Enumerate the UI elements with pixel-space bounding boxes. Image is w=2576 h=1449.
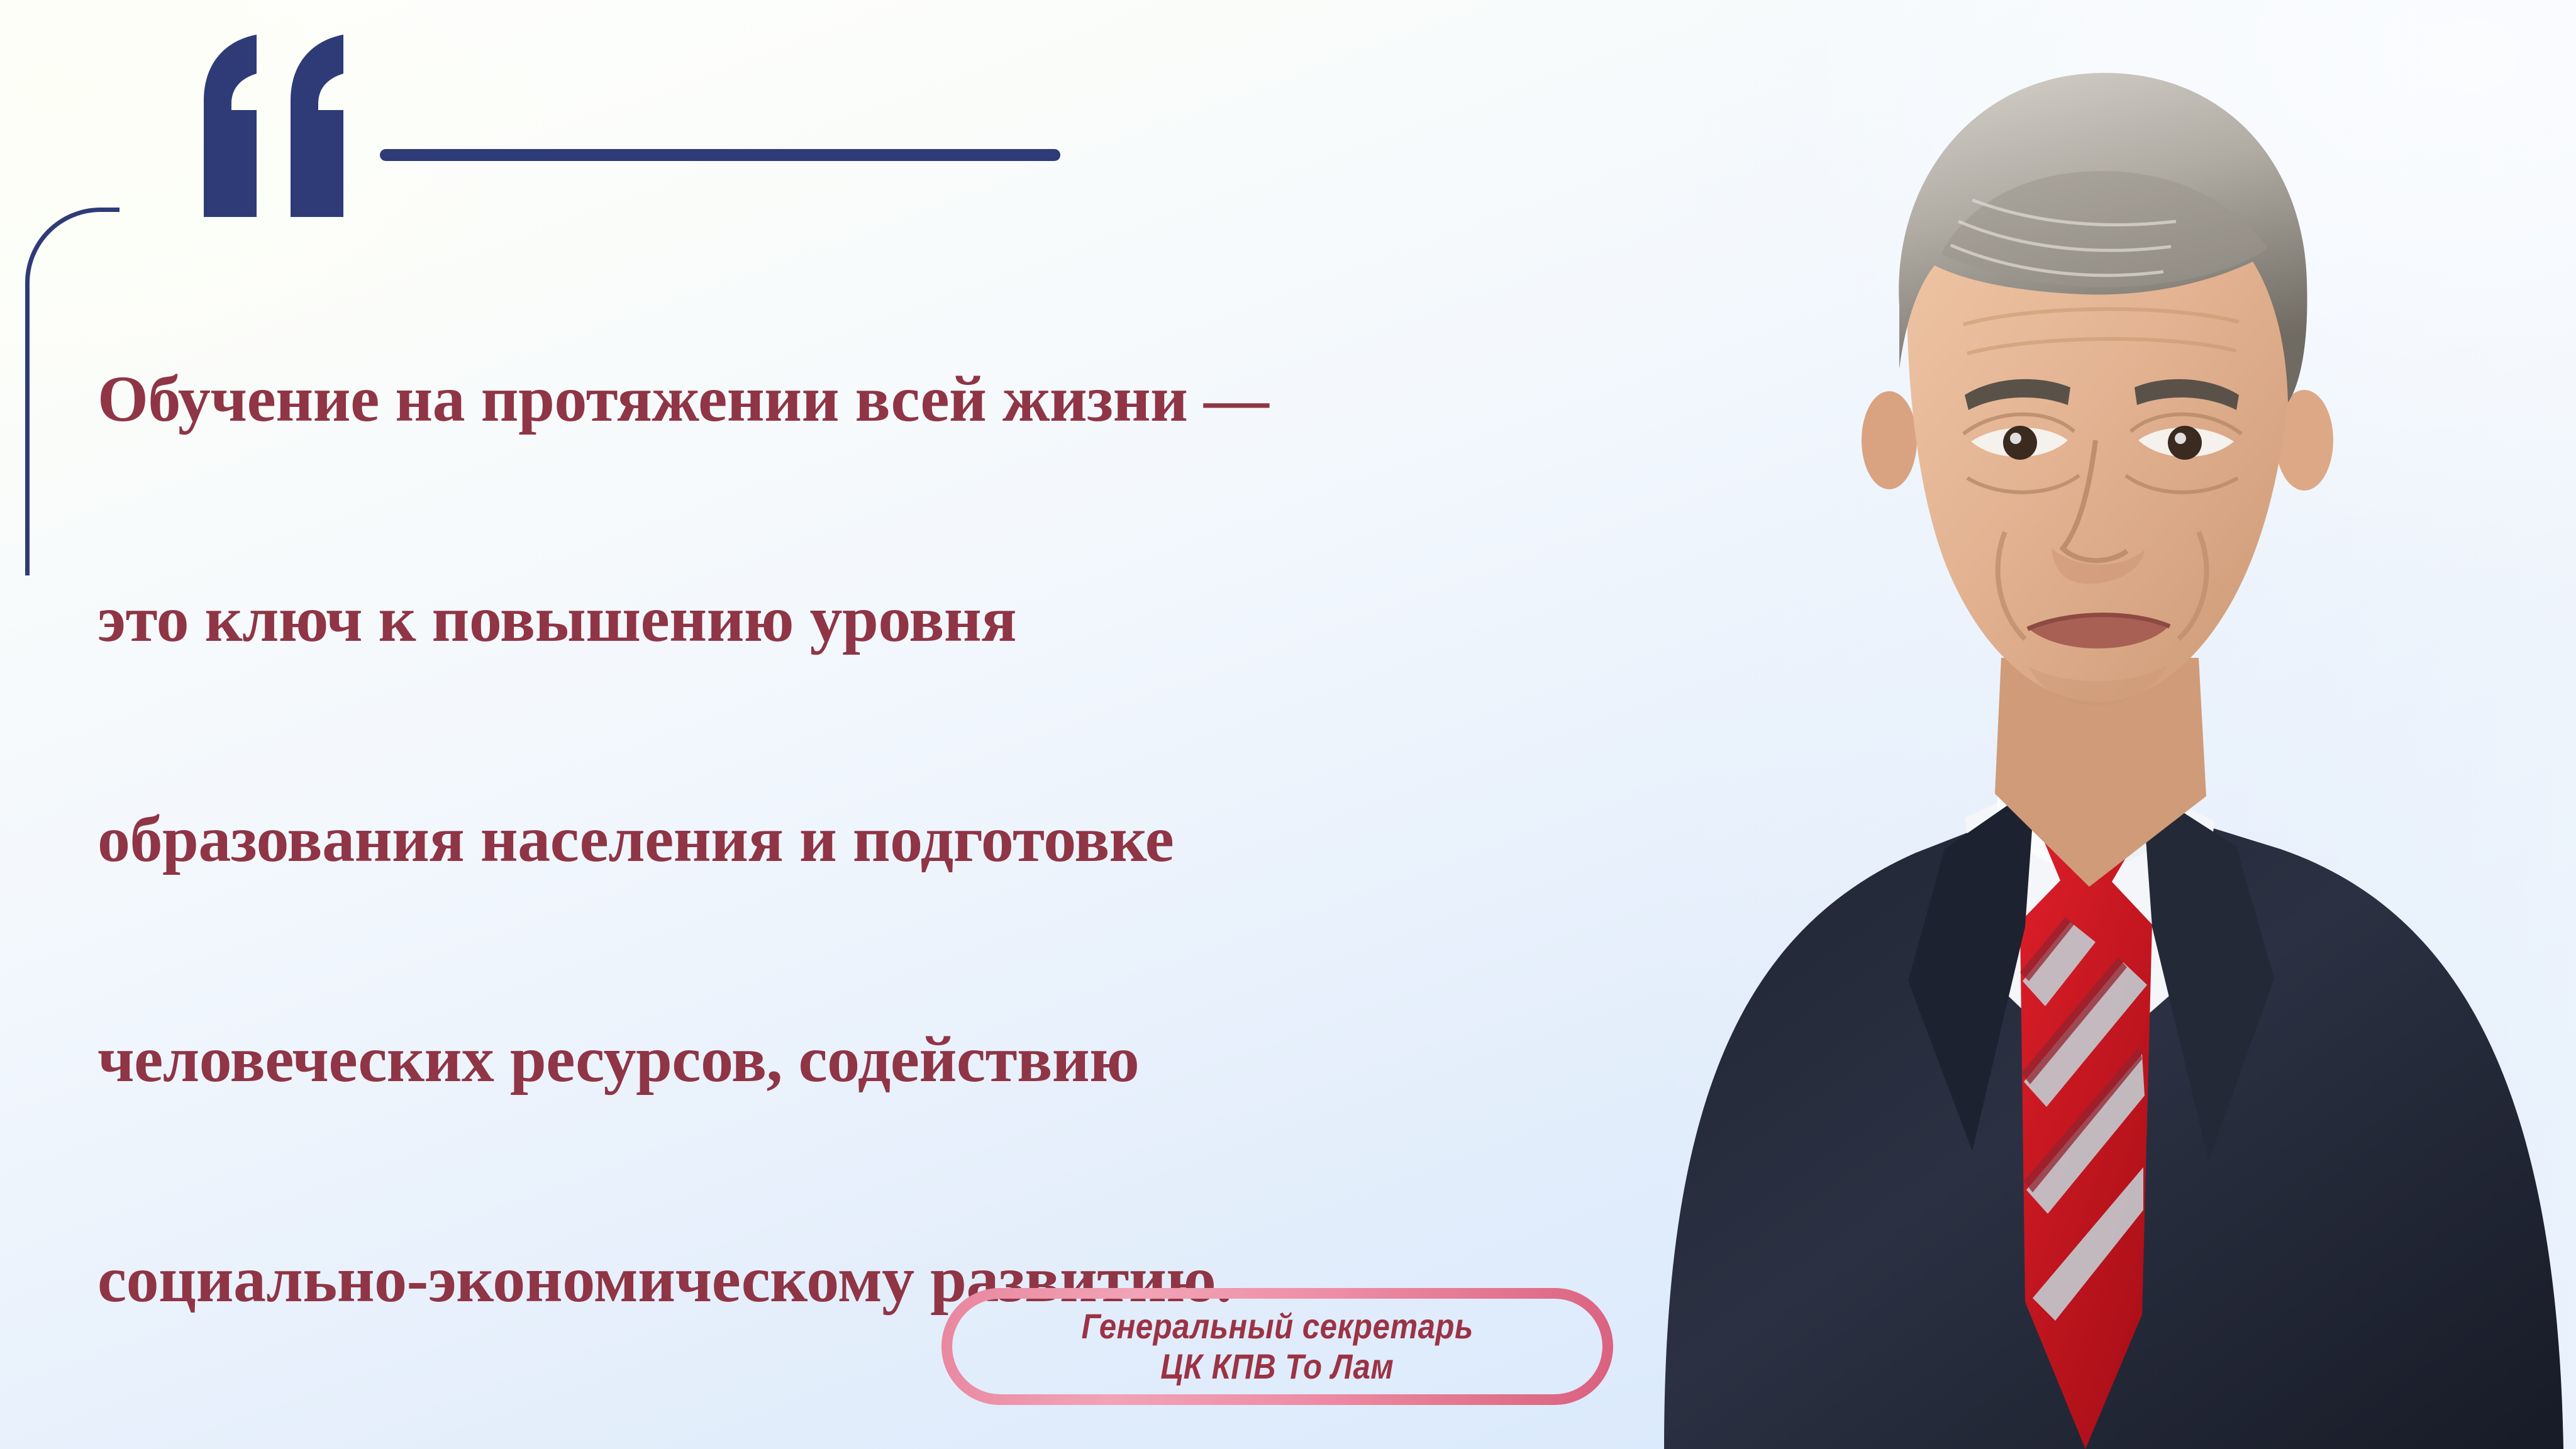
quote-line: это ключ к повышению уровня	[97, 564, 1563, 674]
quote-line: Обучение на протяжении всей жизни —	[97, 344, 1563, 454]
open-quote-icon	[123, 35, 343, 217]
quote-line: человеческих ресурсов, содействию	[97, 1004, 1563, 1114]
divider-rule	[380, 149, 1060, 161]
attribution-badge: Генеральный секретарь ЦК КПВ То Лам	[941, 1288, 1613, 1405]
quote-line: образования населения и подготовке	[97, 784, 1563, 894]
quote-line: Это также единственный путь и	[97, 1445, 1563, 1449]
attribution-line-1: Генеральный секретарь	[1081, 1306, 1473, 1346]
portrait-photo	[1645, 0, 2576, 1449]
quote-card: Обучение на протяжении всей жизни — это …	[0, 0, 2576, 1449]
attribution-line-2: ЦК КПВ То Лам	[1160, 1346, 1394, 1387]
quote-body: Обучение на протяжении всей жизни — это …	[97, 234, 1563, 1449]
